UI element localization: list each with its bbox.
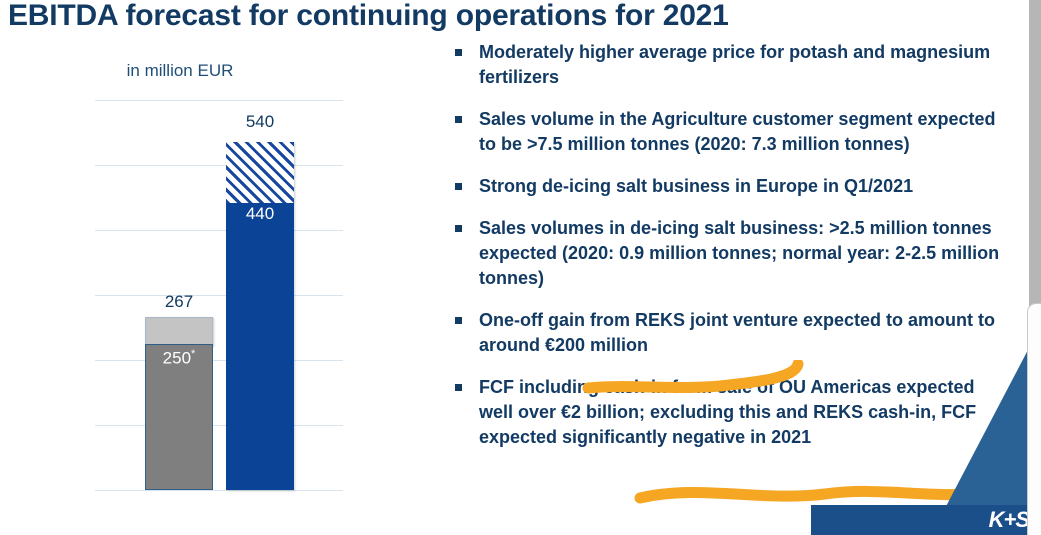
bar-2021e[interactable] xyxy=(226,142,294,490)
bar-label-2020-base: 250* xyxy=(145,348,213,369)
square-bullet-icon xyxy=(455,183,462,190)
footnote-marker: * xyxy=(191,348,195,360)
bar-2021e-upside-segment[interactable] xyxy=(226,142,294,203)
list-item: One-off gain from REKS joint venture exp… xyxy=(455,308,1000,358)
gridline-600 xyxy=(95,100,343,101)
gridline-500 xyxy=(95,165,343,166)
ebitda-bar-chart: in million EUR 267 250* 540 xyxy=(0,48,400,535)
ks-logo: K+S xyxy=(989,507,1029,533)
chart-plot-area: 267 250* 540 440 2020 2021e xyxy=(95,100,343,490)
slide-canvas: EBITDA forecast for continuing operation… xyxy=(0,0,1041,535)
bullet-text: One-off gain from REKS joint venture exp… xyxy=(479,308,1000,358)
gridline-400 xyxy=(95,230,343,231)
bullet-text: FCF including cash-in from sale of OU Am… xyxy=(479,375,1000,450)
bullet-list: Moderately higher average price for pota… xyxy=(455,40,1000,467)
vertical-scrollbar-thumb[interactable] xyxy=(1027,303,1041,535)
list-item: Moderately higher average price for pota… xyxy=(455,40,1000,90)
bullet-text: Strong de-icing salt business in Europe … xyxy=(479,174,913,199)
bar-label-2020-total: 267 xyxy=(131,292,227,312)
chart-unit-label: in million EUR xyxy=(0,61,360,81)
bullet-text: Sales volumes in de-icing salt business:… xyxy=(479,216,1000,291)
bar-label-2021e-total: 540 xyxy=(212,112,308,132)
page-title: EBITDA forecast for continuing operation… xyxy=(8,0,968,34)
square-bullet-icon xyxy=(455,384,462,391)
highlight-stroke-fcf xyxy=(630,478,995,514)
square-bullet-icon xyxy=(455,225,462,232)
gridline-200 xyxy=(95,360,343,361)
list-item: Sales volumes in de-icing salt business:… xyxy=(455,216,1000,291)
gridline-100 xyxy=(95,425,343,426)
bar-2020[interactable] xyxy=(145,317,213,490)
bullet-text: Moderately higher average price for pota… xyxy=(479,40,1000,90)
square-bullet-icon xyxy=(455,116,462,123)
square-bullet-icon xyxy=(455,49,462,56)
list-item: Sales volume in the Agriculture customer… xyxy=(455,107,1000,157)
list-item: FCF including cash-in from sale of OU Am… xyxy=(455,375,1000,450)
bullet-text: Sales volume in the Agriculture customer… xyxy=(479,107,1000,157)
list-item: Strong de-icing salt business in Europe … xyxy=(455,174,1000,199)
bar-2020-oneoff-segment[interactable] xyxy=(145,317,213,346)
square-bullet-icon xyxy=(455,317,462,324)
bar-label-2020-base-value: 250 xyxy=(163,349,191,368)
axis-baseline xyxy=(95,490,343,491)
bar-2021e-base-segment[interactable] xyxy=(226,203,294,490)
bar-label-2021e-base: 440 xyxy=(226,204,294,224)
